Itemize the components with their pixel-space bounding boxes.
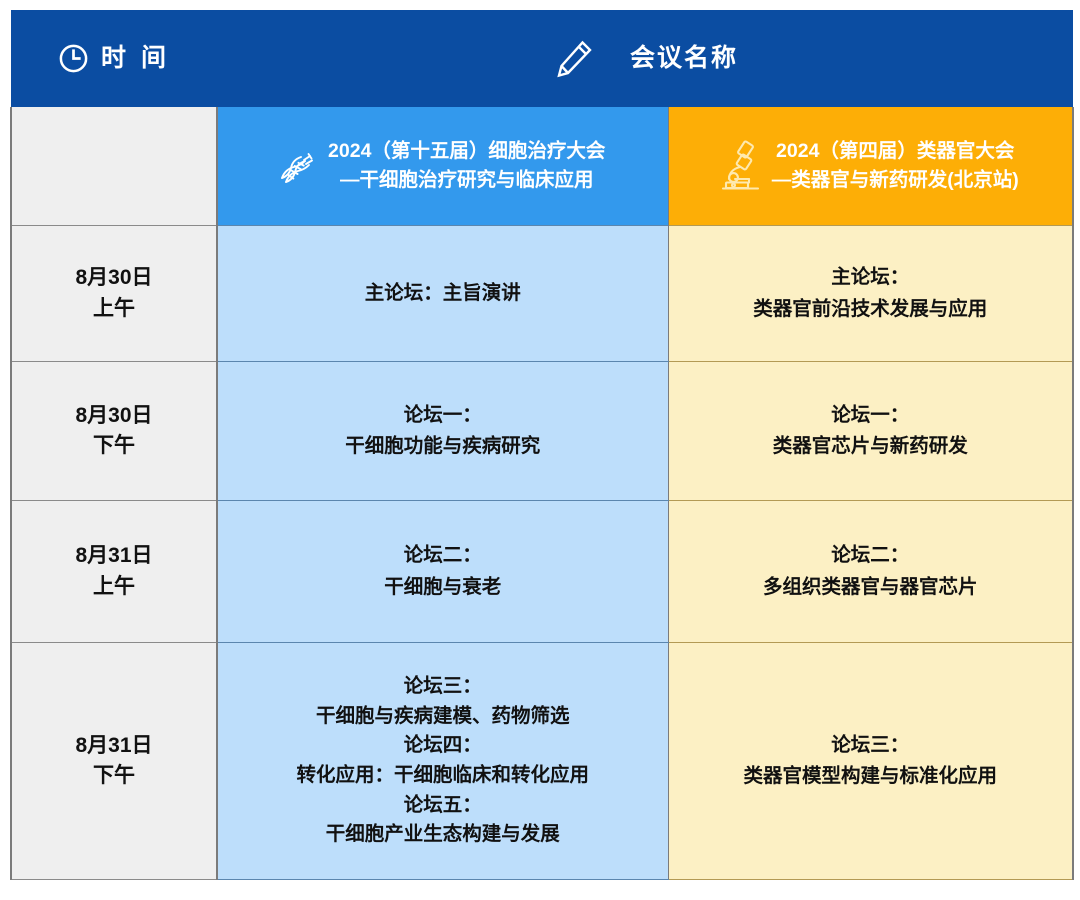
conference-title-stem-cell: 2024（第十五届）细胞治疗大会 —干细胞治疗研究与临床应用 [328, 137, 605, 196]
time-line: 下午 [13, 761, 215, 791]
time-line: 8月30日 [13, 401, 215, 431]
dna-helix-icon [276, 142, 324, 190]
header-time-cell: 时 间 [11, 10, 217, 107]
header-time-label: 时 间 [101, 46, 170, 71]
session-line: 类器官模型构建与标准化应用 [670, 761, 1072, 792]
conference-schedule-table: 时 间 [10, 10, 1074, 880]
conference-spacer-cell [11, 107, 217, 226]
conference-title-line1: 2024（第十五届）细胞治疗大会 [328, 137, 605, 166]
table-row: 8月31日 下午 论坛三： 干细胞与疾病建模、药物筛选 论坛四： 转化应用：干细… [11, 643, 1073, 880]
session-line: 转化应用：干细胞临床和转化应用 [219, 761, 667, 791]
session-cell-organoid: 论坛一： 类器官芯片与新药研发 [668, 362, 1073, 501]
session-line: 多组织类器官与器官芯片 [670, 572, 1072, 603]
session-line: 论坛一： [670, 400, 1072, 431]
time-line: 8月31日 [13, 541, 215, 571]
session-line: 论坛四： [219, 731, 667, 761]
pencil-icon [552, 37, 596, 81]
time-cell: 8月31日 下午 [11, 643, 217, 880]
session-cell-stem-cell: 论坛一： 干细胞功能与疾病研究 [217, 362, 668, 501]
table-row: 8月31日 上午 论坛二： 干细胞与衰老 论坛二： 多组织类器官与器官芯片 [11, 501, 1073, 643]
session-line: 论坛三： [670, 730, 1072, 761]
time-cell: 8月30日 上午 [11, 226, 217, 362]
conference-cell-organoid: 2024（第四届）类器官大会 —类器官与新药研发(北京站) [668, 107, 1073, 226]
conference-title-line1: 2024（第四届）类器官大会 [772, 137, 1019, 166]
microscope-icon [718, 139, 768, 193]
session-line: 论坛二： [670, 540, 1072, 571]
clock-icon [58, 43, 89, 74]
time-line: 上午 [13, 294, 215, 324]
schedule-table-container: 时 间 [10, 10, 1072, 888]
time-line: 8月30日 [13, 263, 215, 293]
session-line: 论坛二： [219, 540, 667, 571]
session-cell-organoid: 论坛三： 类器官模型构建与标准化应用 [668, 643, 1073, 880]
conference-banner-row: 2024（第十五届）细胞治疗大会 —干细胞治疗研究与临床应用 [11, 107, 1073, 226]
conference-title-line2: —干细胞治疗研究与临床应用 [328, 166, 605, 195]
session-line: 类器官芯片与新药研发 [670, 431, 1072, 462]
session-cell-stem-cell: 主论坛：主旨演讲 [217, 226, 668, 362]
time-cell: 8月31日 上午 [11, 501, 217, 643]
session-cell-stem-cell: 论坛三： 干细胞与疾病建模、药物筛选 论坛四： 转化应用：干细胞临床和转化应用 … [217, 643, 668, 880]
session-line: 论坛五： [219, 791, 667, 821]
time-cell: 8月30日 下午 [11, 362, 217, 501]
conference-cell-stem-cell: 2024（第十五届）细胞治疗大会 —干细胞治疗研究与临床应用 [217, 107, 668, 226]
session-cell-organoid: 论坛二： 多组织类器官与器官芯片 [668, 501, 1073, 643]
conference-title-organoid: 2024（第四届）类器官大会 —类器官与新药研发(北京站) [772, 137, 1019, 196]
table-header-row: 时 间 [11, 10, 1073, 107]
time-line: 8月31日 [13, 731, 215, 761]
table-row: 8月30日 上午 主论坛：主旨演讲 主论坛： 类器官前沿技术发展与应用 [11, 226, 1073, 362]
time-line: 上午 [13, 572, 215, 602]
session-cell-stem-cell: 论坛二： 干细胞与衰老 [217, 501, 668, 643]
session-line: 主论坛： [670, 262, 1072, 293]
time-line: 下午 [13, 431, 215, 461]
header-name-label: 会议名称 [630, 46, 738, 71]
session-line: 干细胞功能与疾病研究 [219, 431, 667, 462]
session-line: 类器官前沿技术发展与应用 [670, 294, 1072, 325]
header-name-cell: 会议名称 [217, 10, 1073, 107]
session-line: 干细胞产业生态构建与发展 [219, 820, 667, 850]
session-line: 干细胞与衰老 [219, 572, 667, 603]
session-cell-organoid: 主论坛： 类器官前沿技术发展与应用 [668, 226, 1073, 362]
session-line: 干细胞与疾病建模、药物筛选 [219, 702, 667, 732]
table-row: 8月30日 下午 论坛一： 干细胞功能与疾病研究 论坛一： 类器官芯片与新药研发 [11, 362, 1073, 501]
session-line: 论坛三： [219, 672, 667, 702]
session-line: 主论坛：主旨演讲 [219, 278, 667, 309]
conference-title-line2: —类器官与新药研发(北京站) [772, 166, 1019, 195]
session-line: 论坛一： [219, 400, 667, 431]
